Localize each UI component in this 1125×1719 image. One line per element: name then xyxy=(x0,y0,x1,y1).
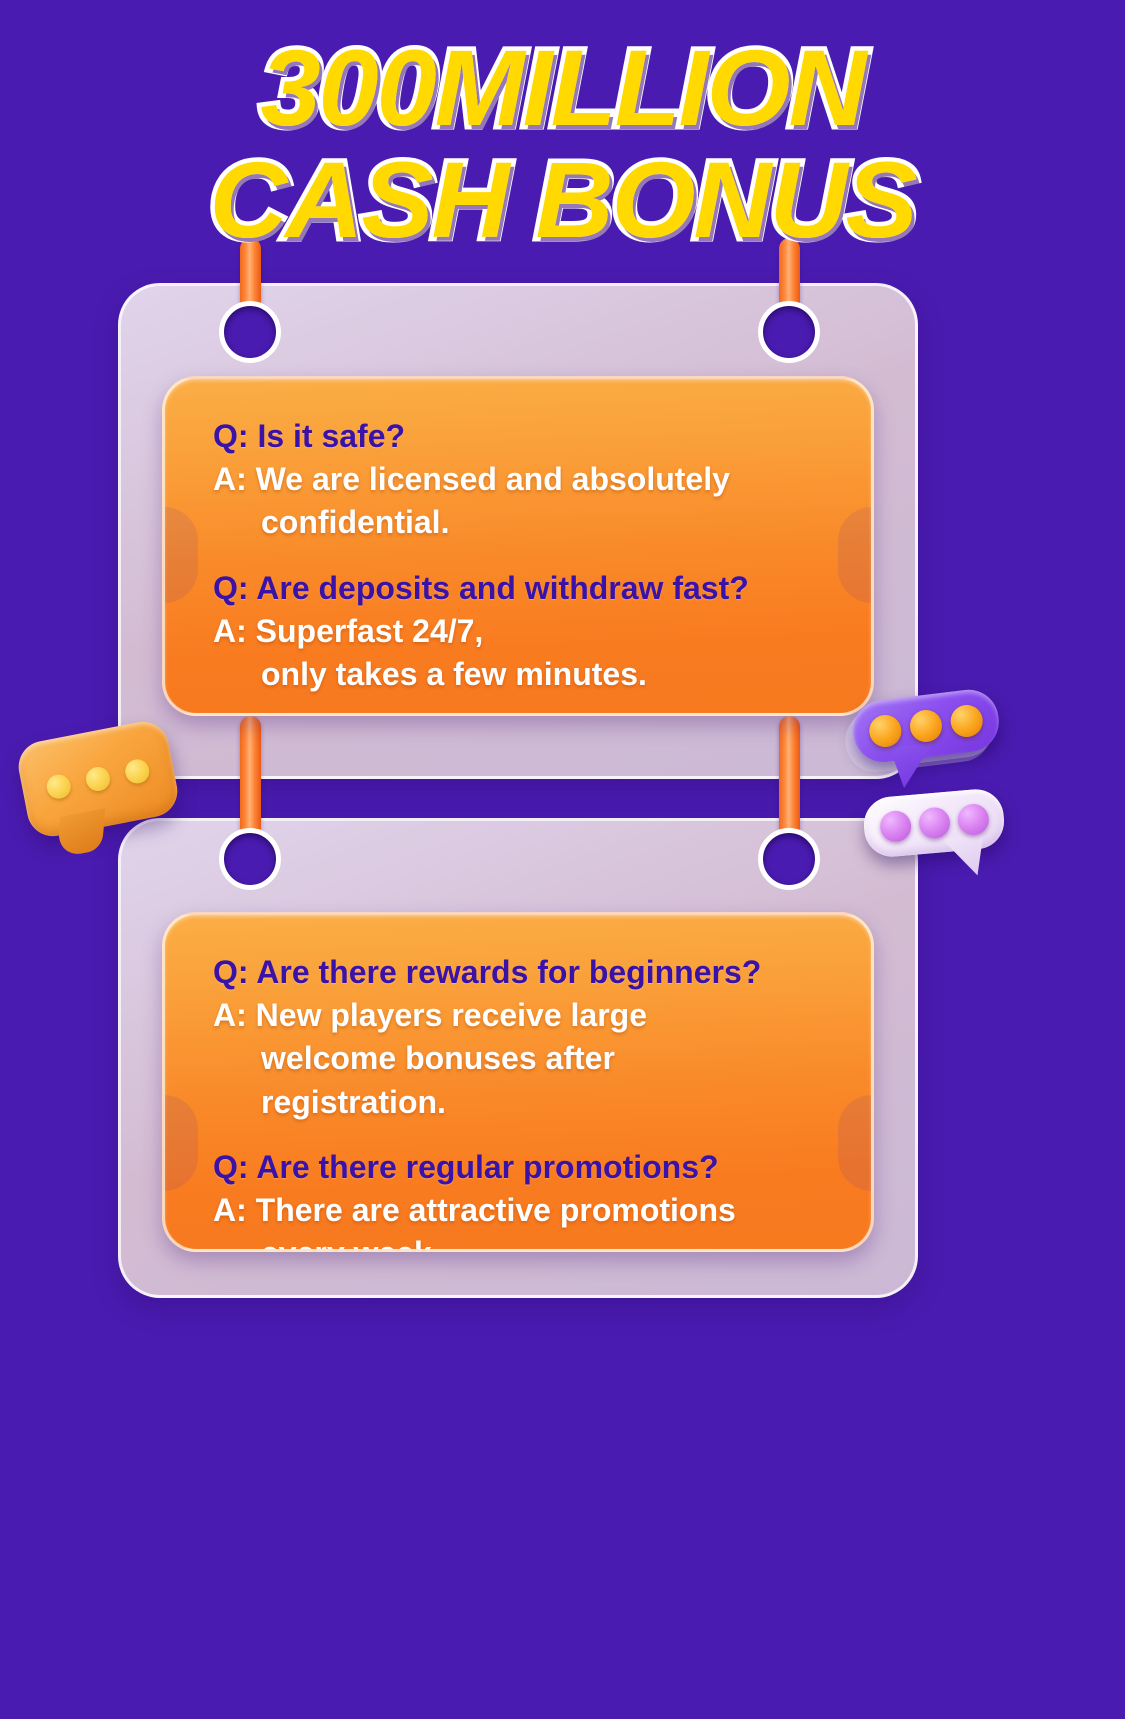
bubble-dot xyxy=(878,810,912,844)
card-notch-right xyxy=(838,507,872,603)
question-text: Q: Is it safe? xyxy=(213,415,841,458)
bubble-dot xyxy=(84,765,112,793)
bubble-dot xyxy=(45,773,73,801)
qa-group: Q: Are there regular promotions? A: Ther… xyxy=(213,1146,841,1252)
answer-text: confidential. xyxy=(213,501,841,544)
bubble-dot xyxy=(867,713,903,749)
question-text: Q: Are deposits and withdraw fast? xyxy=(213,567,841,610)
promo-title-line-1: 300MILLION xyxy=(0,34,1125,142)
speech-bubble-icon-white xyxy=(862,787,1007,859)
question-text: Q: Are there rewards for beginners? xyxy=(213,951,841,994)
faq-card-top: Q: Is it safe? A: We are licensed and ab… xyxy=(162,376,874,716)
answer-text: A: Superfast 24/7, xyxy=(213,610,841,653)
bubble-tail xyxy=(57,808,106,858)
promo-title-line-2: CASH BONUS xyxy=(0,146,1125,254)
card-notch-right xyxy=(838,1095,872,1191)
bubble-tail xyxy=(889,742,938,789)
pin-hole-top-right xyxy=(758,301,820,363)
bubble-dot xyxy=(956,803,990,837)
answer-text: A: There are attractive promotions xyxy=(213,1189,841,1232)
bubble-dot xyxy=(123,757,151,785)
bubble-dot xyxy=(908,708,944,744)
answer-text: A: New players receive large xyxy=(213,994,841,1037)
pin-hole-bottom-right xyxy=(758,828,820,890)
pin-hole-top-left xyxy=(219,301,281,363)
card-notch-left xyxy=(164,507,198,603)
question-text: Q: Are there regular promotions? xyxy=(213,1146,841,1189)
answer-text: A: We are licensed and absolutely xyxy=(213,458,841,501)
qa-group: Q: Are there rewards for beginners? A: N… xyxy=(213,951,841,1124)
answer-text: every week. xyxy=(213,1232,841,1252)
card-notch-left xyxy=(164,1095,198,1191)
qa-group: Q: Are deposits and withdraw fast? A: Su… xyxy=(213,567,841,697)
answer-text: welcome bonuses after xyxy=(213,1037,841,1080)
bubble-dots xyxy=(21,753,175,806)
qa-group: Q: Is it safe? A: We are licensed and ab… xyxy=(213,415,841,545)
promo-title: 300MILLION CASH BONUS xyxy=(0,34,1125,254)
faq-card-bottom: Q: Are there rewards for beginners? A: N… xyxy=(162,912,874,1252)
bubble-dot xyxy=(949,703,985,739)
pin-hole-bottom-left xyxy=(219,828,281,890)
answer-text: registration. xyxy=(213,1081,841,1124)
answer-text: only takes a few minutes. xyxy=(213,653,841,696)
bubble-tail xyxy=(941,835,986,879)
bubble-dots xyxy=(863,801,1005,844)
bubble-dot xyxy=(917,806,951,840)
